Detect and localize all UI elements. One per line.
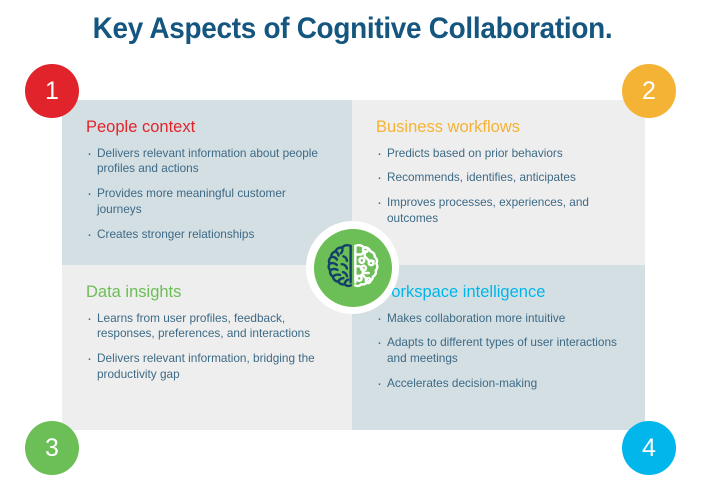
list-item: Adapts to different types of user intera… [376,335,621,366]
quadrant-people-context: People context Delivers relevant informa… [62,100,352,265]
quadrant-heading: Data insights [86,283,328,303]
quadrant-heading: People context [86,118,328,138]
brain-glyph [323,238,383,298]
list-item: Accelerates decision-making [376,376,621,392]
quadrant-heading: Workspace intelligence [376,283,621,303]
badge-number-3: 3 [25,421,79,475]
quadrant-workspace-intelligence: Workspace intelligence Makes collaborati… [352,265,645,430]
list-item: Delivers relevant information about peop… [86,146,328,177]
quadrant-heading: Business workflows [376,118,621,138]
list-item: Makes collaboration more intuitive [376,311,621,327]
badge-number-1: 1 [25,64,79,118]
badge-number-4: 4 [622,421,676,475]
badge-number-2: 2 [622,64,676,118]
quadrant-bullet-list: Delivers relevant information about peop… [86,146,328,242]
list-item: Recommends, identifies, anticipates [376,170,621,186]
list-item: Predicts based on prior behaviors [376,146,621,162]
brain-icon-disc [314,229,392,307]
list-item: Delivers relevant information, bridging … [86,351,328,382]
page-title: Key Aspects of Cognitive Collaboration. [25,12,681,46]
quadrant-bullet-list: Predicts based on prior behaviors Recomm… [376,146,621,227]
quadrant-business-workflows: Business workflows Predicts based on pri… [352,100,645,265]
list-item: Creates stronger relationships [86,227,328,243]
quadrant-bullet-list: Learns from user profiles, feedback, res… [86,311,328,383]
list-item: Provides more meaningful customer journe… [86,186,328,217]
brain-circuit-icon [306,221,399,314]
quadrant-bullet-list: Makes collaboration more intuitive Adapt… [376,311,621,392]
quadrant-data-insights: Data insights Learns from user profiles,… [62,265,352,430]
list-item: Learns from user profiles, feedback, res… [86,311,328,342]
list-item: Improves processes, experiences, and out… [376,195,621,226]
